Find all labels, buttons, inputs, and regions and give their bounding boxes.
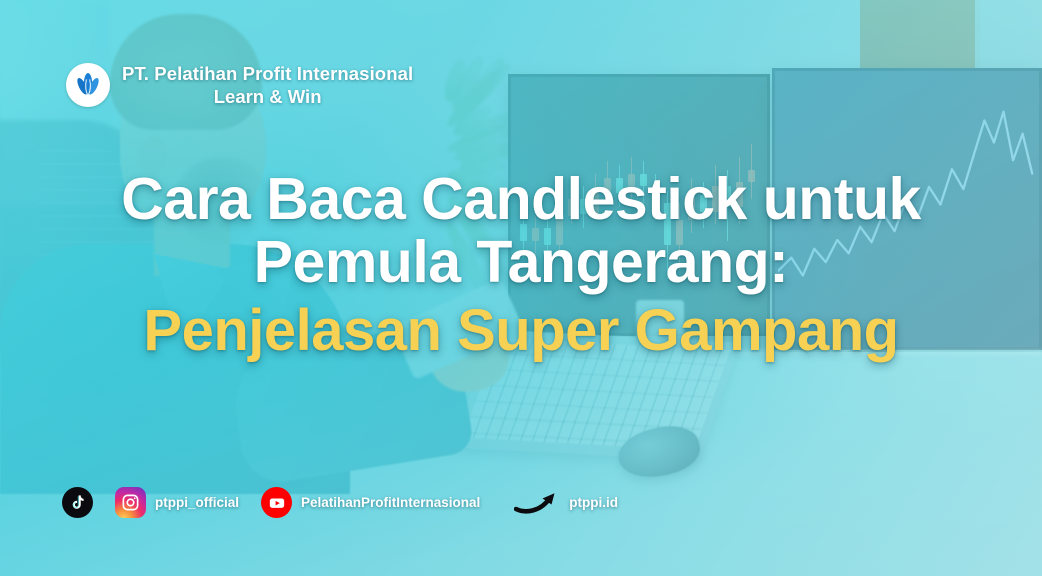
tiktok-icon[interactable] xyxy=(62,487,93,518)
brand-text: PT. Pelatihan Profit Internasional Learn… xyxy=(122,62,413,108)
brand-tagline: Learn & Win xyxy=(214,85,322,108)
social-footer: ptppi_official PelatihanProfitInternasio… xyxy=(62,487,618,518)
instagram-handle: ptppi_official xyxy=(155,495,239,510)
website-handle: ptppi.id xyxy=(569,495,618,510)
brand-company-name: PT. Pelatihan Profit Internasional xyxy=(122,62,413,85)
social-instagram[interactable]: ptppi_official xyxy=(115,487,239,518)
banner-content: PT. Pelatihan Profit Internasional Learn… xyxy=(0,0,1042,576)
social-youtube[interactable]: PelatihanProfitInternasional xyxy=(261,487,480,518)
tiktok-glyph-icon xyxy=(69,494,86,511)
youtube-glyph-icon xyxy=(267,493,287,513)
lotus-leaf-logo-icon xyxy=(73,70,103,100)
social-website[interactable]: ptppi.id xyxy=(514,490,618,516)
company-logo xyxy=(66,63,110,107)
headline-block: Cara Baca Candlestick untuk Pemula Tange… xyxy=(0,168,1042,362)
instagram-icon[interactable] xyxy=(115,487,146,518)
promo-banner: PT. Pelatihan Profit Internasional Learn… xyxy=(0,0,1042,576)
brand-lockup: PT. Pelatihan Profit Internasional Learn… xyxy=(66,62,413,108)
headline-line-2: Pemula Tangerang: xyxy=(34,231,1008,294)
curved-arrow-icon xyxy=(514,490,560,516)
social-tiktok[interactable] xyxy=(62,487,93,518)
instagram-glyph-icon xyxy=(121,493,140,512)
headline-line-1: Cara Baca Candlestick untuk xyxy=(34,168,1008,231)
youtube-icon[interactable] xyxy=(261,487,292,518)
curved-arrow-glyph-icon xyxy=(514,490,560,516)
headline-line-3-accent: Penjelasan Super Gampang xyxy=(34,300,1008,362)
youtube-channel-name: PelatihanProfitInternasional xyxy=(301,495,480,510)
